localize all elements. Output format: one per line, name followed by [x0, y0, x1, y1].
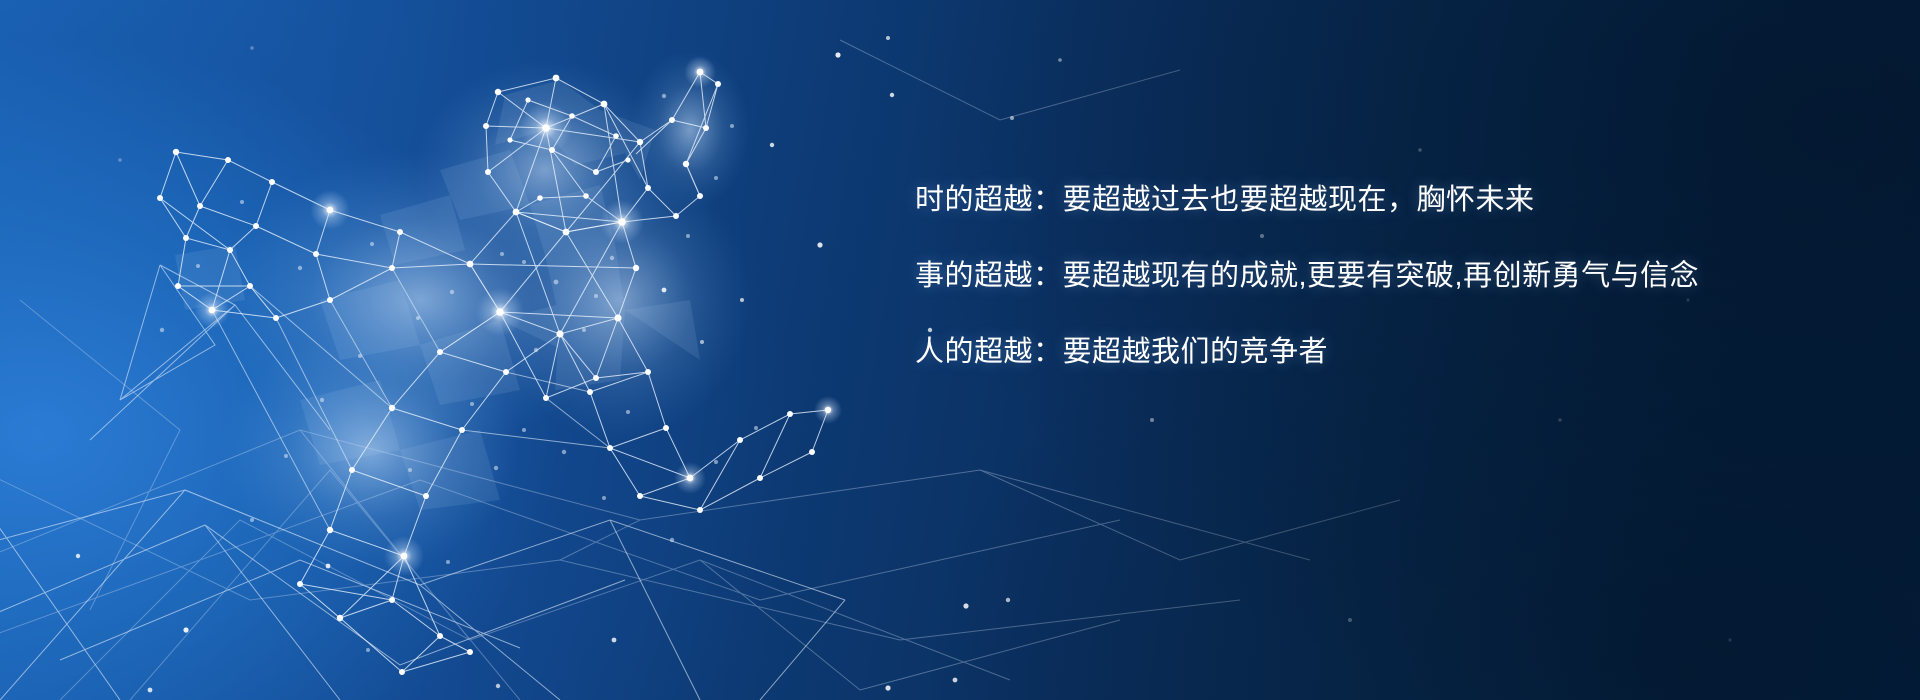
hero-banner: 时的超越：要超越过去也要超越现在，胸怀未来 事的超越：要超越现有的成就,更要有突…: [0, 0, 1920, 700]
slogan-line-achievement: 事的超越：要超越现有的成就,更要有突破,再创新勇气与信念: [915, 262, 1635, 291]
slogan-line-time: 时的超越：要超越过去也要超越现在，胸怀未来: [915, 186, 1635, 215]
slogan-block: 时的超越：要超越过去也要超越现在，胸怀未来 事的超越：要超越现有的成就,更要有突…: [915, 186, 1635, 367]
slogan-line-people: 人的超越：要超越我们的竞争者: [915, 338, 1635, 367]
